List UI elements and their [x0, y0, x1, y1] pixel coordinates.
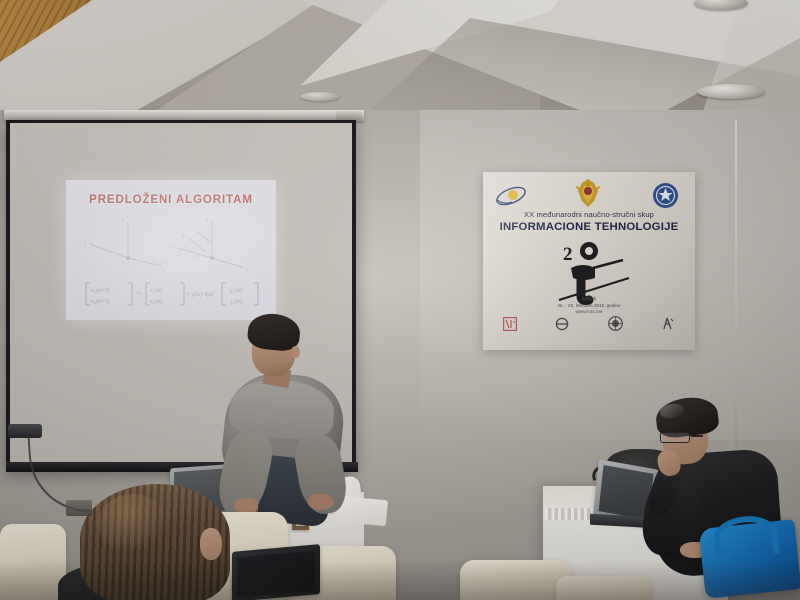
svg-text:y: y — [246, 269, 249, 274]
presenter-ear — [291, 346, 300, 358]
svg-text:d: d — [196, 255, 199, 260]
slide-equation: x₁(n+1)x₂(n+1) = x₁(n)x₂(n) + μ(n)·J(n) … — [84, 280, 260, 308]
svg-text:y₁(n): y₁(n) — [230, 287, 242, 294]
laptop-foreground-lid — [232, 544, 320, 600]
chair-right-front[interactable] — [556, 576, 652, 600]
svg-text:x: x — [84, 241, 87, 246]
banner-subtitle: XX međunarodni naučno-stručni skup — [483, 210, 695, 219]
svg-text:x₁(n+1): x₁(n+1) — [91, 287, 109, 294]
audience-face — [200, 528, 222, 560]
svg-text:y: y — [162, 269, 165, 274]
ceiling-downlight-2 — [697, 84, 765, 99]
slide-title: PREDLOŽENI ALGORITAM — [66, 194, 276, 206]
photo-scene: PREDLOŽENI ALGORITAM — [0, 0, 800, 600]
ceiling-downlight-5 — [300, 92, 340, 101]
slide-diagram-icon: zxy zxy qd — [66, 214, 276, 276]
banner-place-dates: Žabljak 25. - 28. februara 2015. godine … — [483, 296, 695, 316]
laptop-foreground[interactable] — [232, 548, 324, 600]
theta-emblem-icon — [554, 317, 570, 336]
presenter-standing — [216, 312, 356, 512]
svg-text:x₂(n): x₂(n) — [150, 298, 162, 305]
svg-text:z: z — [122, 218, 125, 223]
projected-slide: PREDLOŽENI ALGORITAM — [66, 180, 276, 320]
svg-text:z: z — [206, 218, 209, 223]
wall-socket[interactable] — [66, 500, 92, 516]
projector-screen-rail-cap — [336, 111, 362, 120]
blue-bag — [699, 519, 800, 599]
svg-text:2: 2 — [563, 244, 573, 265]
banner-title: INFORMACIONE TEHNOLOGIJE — [483, 221, 695, 233]
audience-hair-highlight — [98, 494, 168, 554]
presenter-right-hand — [308, 494, 334, 510]
svg-text:y₂(n): y₂(n) — [230, 298, 242, 305]
swirl-atom-logo-icon — [494, 184, 528, 208]
red-square-logo-icon — [503, 317, 517, 336]
svg-text:q: q — [182, 233, 185, 238]
eyeglasses-icon — [660, 432, 690, 443]
chair-left[interactable] — [0, 524, 66, 600]
conference-banner: XX međunarodni naučno-stručni skup INFOR… — [483, 172, 695, 350]
svg-text:x₁(n): x₁(n) — [150, 287, 162, 294]
banner-footer-logos — [503, 315, 675, 337]
svg-text:x: x — [172, 245, 175, 250]
svg-text:=: = — [137, 291, 141, 297]
blue-circular-emblem-icon — [652, 182, 679, 209]
seal-emblem-icon — [608, 316, 623, 336]
svg-text:+ μ(n)·J(n): + μ(n)·J(n) — [187, 291, 213, 298]
monogram-emblem-icon — [660, 316, 675, 336]
montenegro-coat-of-arms-icon — [572, 177, 604, 211]
svg-text:x₂(n+1): x₂(n+1) — [91, 298, 109, 305]
